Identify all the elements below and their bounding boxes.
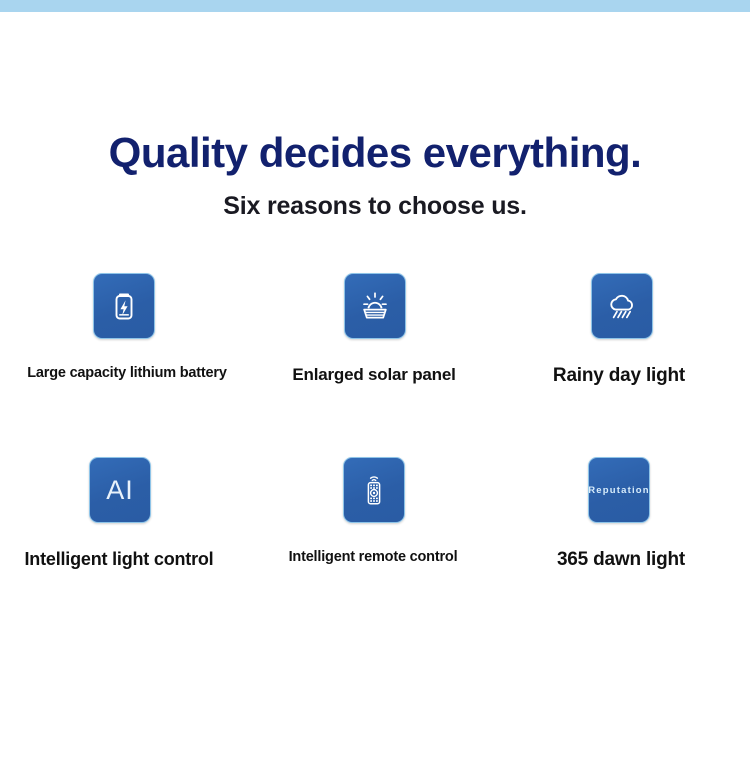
- header-block: Quality decides everything. Six reasons …: [0, 130, 750, 221]
- feature-item-intelligent-remote-control: Intelligent remote control: [250, 457, 500, 571]
- rain-cloud-icon: [604, 289, 640, 323]
- solar-panel-sunrise-icon: [357, 289, 393, 323]
- battery-charging-icon: [107, 289, 141, 323]
- feature-label: Intelligent remote control: [289, 549, 458, 565]
- feature-label: 365 dawn light: [557, 549, 685, 571]
- feature-item-lithium-battery: Large capacity lithium battery: [0, 273, 250, 422]
- feature-label: Large capacity lithium battery: [27, 365, 226, 381]
- feature-item-intelligent-light-control: AI Intelligent light control: [0, 457, 250, 571]
- feature-icon-tile: [591, 273, 653, 339]
- feature-label: Intelligent light control: [25, 549, 214, 570]
- page-subtitle: Six reasons to choose us.: [0, 192, 750, 221]
- feature-item-365-dawn-light: Reputation 365 dawn light: [500, 457, 750, 571]
- feature-label: Enlarged solar panel: [292, 365, 455, 385]
- page-title: Quality decides everything.: [0, 130, 750, 176]
- feature-icon-tile: Reputation: [588, 457, 650, 523]
- feature-icon-tile: [343, 457, 405, 523]
- feature-icon-tile: [344, 273, 406, 339]
- features-grid: Large capacity lithium battery: [0, 273, 750, 571]
- feature-item-solar-panel: Enlarged solar panel: [250, 273, 500, 422]
- feature-item-rainy-day-light: Rainy day light: [500, 273, 750, 422]
- feature-icon-tile: AI: [89, 457, 151, 523]
- reputation-text-icon: Reputation: [588, 485, 650, 496]
- feature-label: Rainy day light: [553, 365, 685, 387]
- top-accent-bar: [0, 0, 750, 12]
- feature-icon-tile: [93, 273, 155, 339]
- remote-control-icon: [358, 472, 390, 508]
- ai-text-icon: AI: [106, 475, 134, 506]
